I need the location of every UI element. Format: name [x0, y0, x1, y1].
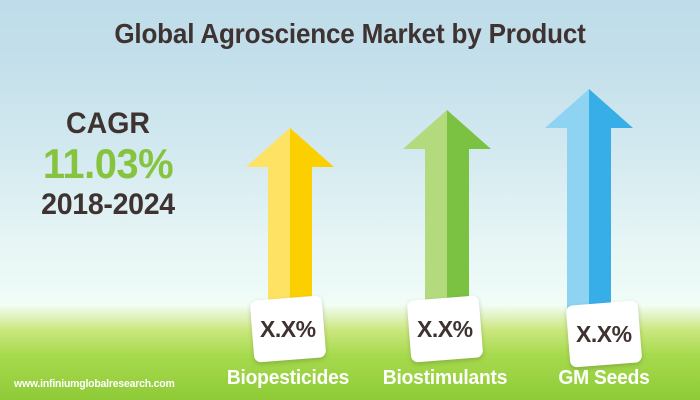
- arrow-biostimulants-right-face: [447, 110, 491, 313]
- category-label-gm-seeds: GM Seeds: [522, 367, 685, 390]
- arrow-biopesticides-right-face: [290, 128, 334, 313]
- infographic-canvas: Global Agroscience Market by Product CAG…: [0, 0, 700, 400]
- value-biopesticides: X.X%: [260, 316, 316, 343]
- arrow-biopesticides-left-face: [246, 128, 290, 313]
- value-biostimulants: X.X%: [417, 316, 473, 343]
- arrow-gm-seeds-right-face: [589, 89, 633, 313]
- cagr-value: 11.03%: [13, 140, 203, 188]
- value-card-biostimulants: X.X%: [407, 295, 484, 362]
- cagr-block: CAGR 11.03% 2018-2024: [8, 108, 208, 221]
- arrow-biostimulants: [403, 110, 491, 313]
- page-title: Global Agroscience Market by Product: [25, 18, 676, 50]
- arrow-gm-seeds-left-face: [545, 89, 589, 313]
- value-card-biopesticides: X.X%: [250, 295, 327, 362]
- watermark-url: www.infiniumglobalresearch.com: [14, 378, 175, 390]
- arrow-gm-seeds: [545, 89, 633, 313]
- cagr-period: 2018-2024: [13, 188, 203, 221]
- arrow-biopesticides: [246, 128, 334, 313]
- arrow-biostimulants-left-face: [403, 110, 447, 313]
- value-card-gm-seeds: X.X%: [566, 300, 643, 367]
- category-label-biostimulants: Biostimulants: [363, 367, 526, 390]
- cagr-label: CAGR: [13, 108, 203, 140]
- value-gm-seeds: X.X%: [576, 321, 632, 348]
- category-label-biopesticides: Biopesticides: [206, 367, 369, 390]
